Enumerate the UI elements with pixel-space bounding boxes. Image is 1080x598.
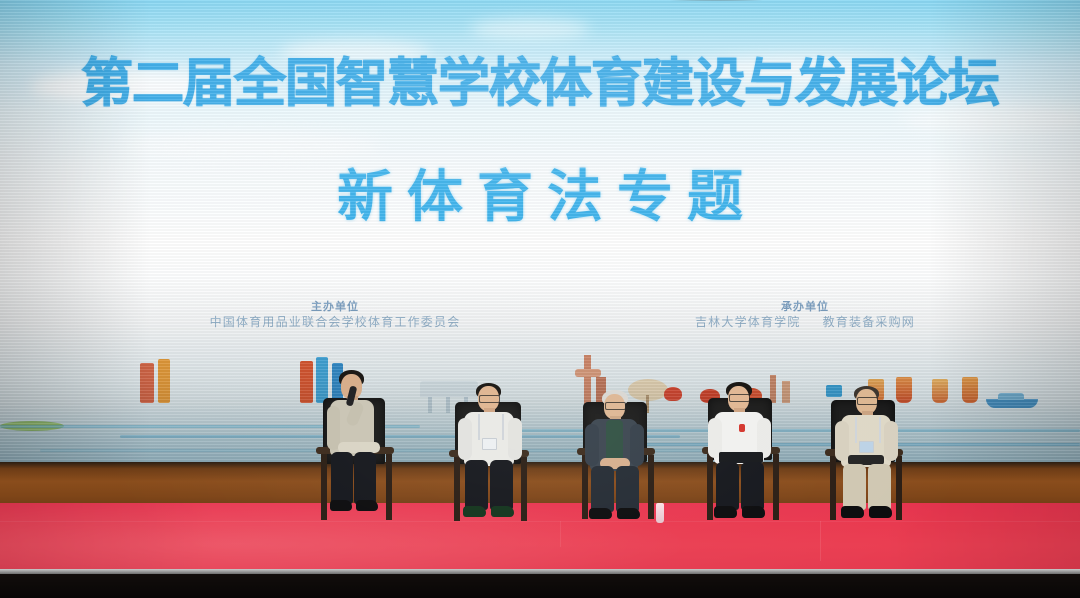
illustration-building <box>782 381 790 403</box>
illustration-signboard <box>826 385 842 397</box>
arm-left <box>585 424 599 466</box>
shoe-left <box>330 500 352 511</box>
illustration-lantern <box>962 377 978 403</box>
leg-left <box>843 464 866 510</box>
shoe-right <box>617 508 640 519</box>
carpet-seam <box>820 521 821 561</box>
shoe-left <box>714 506 737 518</box>
event-subtitle: 新体育法专题 <box>0 165 1080 229</box>
stage-front-shadow <box>0 574 1080 598</box>
torso-polo <box>606 420 623 462</box>
carpet-seam <box>560 521 561 547</box>
host-organizer-label: 主办单位 <box>110 300 560 314</box>
cloud-shape <box>470 18 590 40</box>
host-organizer-block: 主办单位 中国体育用品业联合会学校体育工作委员会 <box>110 300 560 330</box>
backdrop-illustration <box>0 355 1080 462</box>
arm-right <box>508 418 522 460</box>
illustration-banner <box>300 361 313 403</box>
shoe-right <box>742 506 765 518</box>
arm-left <box>458 418 472 460</box>
leg-left <box>716 462 739 510</box>
leg-right <box>616 466 639 512</box>
leg-left <box>591 466 614 512</box>
arm-left <box>835 421 849 461</box>
lapel-pin <box>739 424 745 432</box>
cohost-name-1: 吉林大学体育学院 <box>695 315 801 329</box>
stage-red-carpet <box>0 503 1080 571</box>
illustration-lantern <box>896 377 912 403</box>
illustration-lantern <box>932 379 948 403</box>
leg-right <box>868 464 891 510</box>
shoe-right <box>491 506 514 517</box>
shoe-left <box>463 506 486 517</box>
arm-right <box>884 421 898 461</box>
shoe-left <box>841 506 864 518</box>
led-backdrop-screen: 第二届全国智慧学校体育建设与发展论坛 新体育法专题 主办单位 中国体育用品业联合… <box>0 0 1080 462</box>
arm-right <box>630 424 644 466</box>
id-badge <box>859 441 874 453</box>
glasses <box>479 395 500 403</box>
leg-right <box>741 462 764 510</box>
cloud-shape <box>120 130 380 160</box>
conference-stage-photo: 第二届全国智慧学校体育建设与发展论坛 新体育法专题 主办单位 中国体育用品业联合… <box>0 0 1080 598</box>
water-bottle <box>656 503 664 523</box>
shoe-left <box>589 508 612 519</box>
cohost-name-2: 教育装备采购网 <box>823 315 915 329</box>
illustration-banner <box>158 359 170 403</box>
lanyard <box>478 414 504 440</box>
illustration-red-emblem <box>664 387 682 401</box>
illustration-boat <box>986 399 1038 408</box>
leg-right <box>490 460 513 510</box>
screen-frame-top-edge <box>0 0 1080 10</box>
illustration-banner <box>316 357 328 403</box>
illustration-boat-cabin <box>998 393 1024 400</box>
illustration-tower-deck <box>575 369 601 377</box>
leg-left <box>331 452 353 504</box>
illustration-building <box>770 375 776 403</box>
id-badge <box>482 438 497 450</box>
glasses <box>857 397 878 405</box>
lanyard <box>855 417 881 443</box>
shoe-right <box>356 500 378 511</box>
shoe-right <box>869 506 892 518</box>
illustration-water <box>0 404 1080 462</box>
illustration-building <box>420 381 478 397</box>
cohost-organizer-names: 吉林大学体育学院教育装备采购网 <box>580 314 1030 330</box>
leg-right <box>354 452 376 504</box>
leg-left <box>465 460 488 510</box>
glasses <box>605 402 626 410</box>
illustration-building-pillar <box>446 397 450 413</box>
carpet-seam <box>0 521 1080 522</box>
illustration-building-pillar <box>428 397 432 413</box>
illustration-banner <box>140 363 154 403</box>
cohost-organizer-label: 承办单位 <box>580 300 1030 314</box>
glasses <box>729 394 750 402</box>
cohost-organizer-block: 承办单位 吉林大学体育学院教育装备采购网 <box>580 300 1030 330</box>
host-organizer-name: 中国体育用品业联合会学校体育工作委员会 <box>110 314 560 330</box>
event-main-title: 第二届全国智慧学校体育建设与发展论坛 <box>0 55 1080 113</box>
